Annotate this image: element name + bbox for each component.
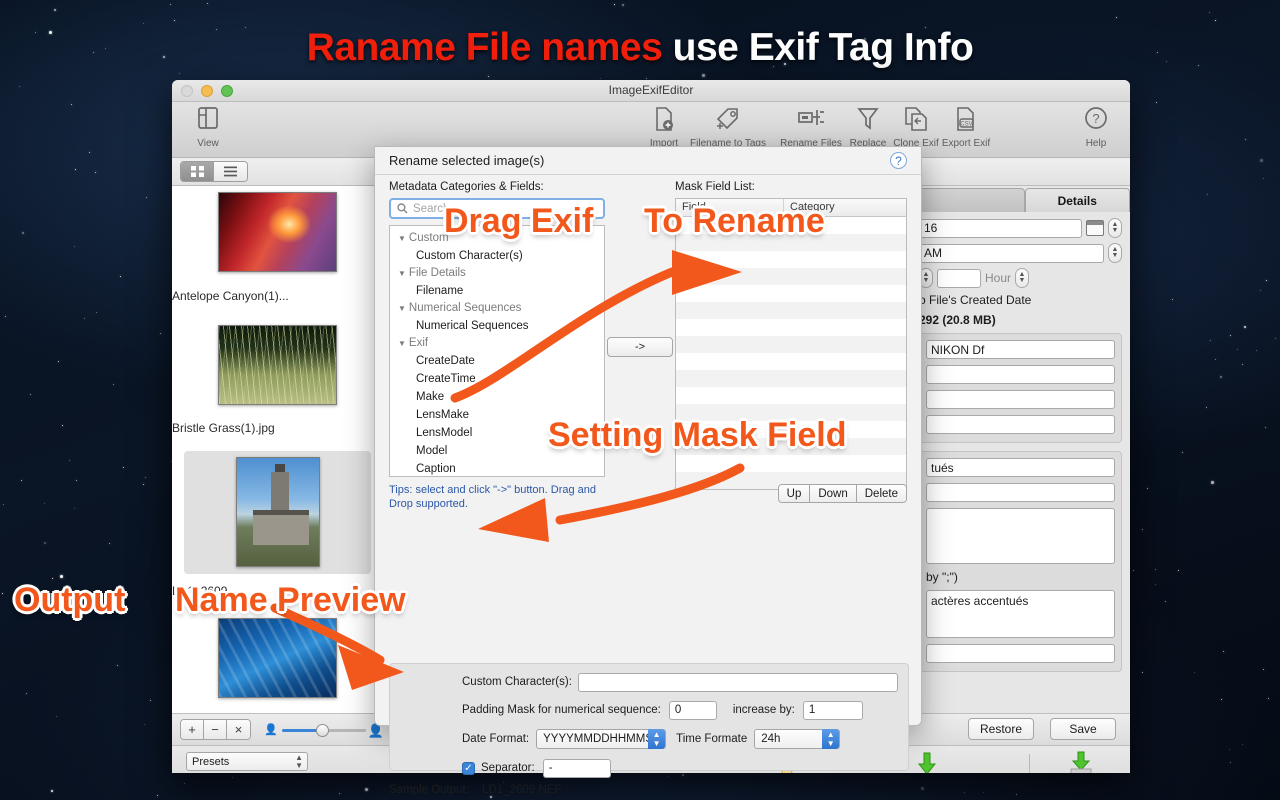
camera-field-4[interactable] [926, 415, 1115, 434]
separator-input[interactable]: - [543, 759, 611, 778]
help-icon: ? [1064, 106, 1128, 136]
increase-by-input[interactable]: 1 [803, 701, 863, 720]
presets-value: Presets [192, 756, 229, 768]
mask-table-row[interactable] [676, 268, 906, 285]
mask-table-row[interactable] [676, 336, 906, 353]
view-mode-segmented-control[interactable] [180, 161, 248, 182]
mask-table-row[interactable] [676, 370, 906, 387]
tree-item[interactable]: Custom Character(s) [390, 247, 604, 265]
date-format-value: YYYYMMDDHHMMSS [543, 733, 661, 745]
footer-batch-save[interactable]: Batch Save [1046, 750, 1116, 773]
window-titlebar: ImageExifEditor [172, 80, 1130, 102]
thumbnail-item-selected[interactable] [184, 451, 371, 574]
date-stepper[interactable]: ▲▼ [1108, 218, 1122, 238]
hour-label: Hour [985, 271, 1011, 285]
annotation-to-rename: To Rename [644, 202, 825, 241]
thumbnail-image-church[interactable] [236, 457, 320, 567]
chevron-updown-icon: ▲▼ [295, 754, 303, 770]
mask-table-row[interactable] [676, 319, 906, 336]
toolbar-export-exif[interactable]: CSV Export Exif [934, 106, 998, 149]
time-format-value: 24h [761, 733, 780, 745]
mask-action-buttons[interactable]: Up Down Delete [778, 484, 907, 503]
custom-chars-input[interactable] [578, 673, 898, 692]
separator-label: Separator: [481, 762, 535, 774]
tree-category-label: Exif [409, 337, 428, 349]
thumbnail-zoom-buttons[interactable]: + − × [180, 719, 251, 740]
mask-delete-button[interactable]: Delete [857, 485, 906, 502]
headline-white-text: use Exif Tag Info [673, 26, 974, 69]
date-format-row: Date Format: YYYYMMDDHHMMSS ▲▼ Time Form… [462, 727, 908, 751]
separator-note: by ";") [926, 570, 1115, 584]
toolbar-help[interactable]: ? Help [1064, 106, 1128, 149]
keyword-field-1[interactable]: tués [926, 458, 1115, 477]
footer-divider [1029, 754, 1030, 773]
description-field[interactable] [926, 508, 1115, 564]
tree-category[interactable]: ▼Exif [390, 335, 604, 352]
mask-label: Mask Field List: [675, 181, 907, 193]
keyword-field-2[interactable] [926, 483, 1115, 502]
thumbnail-image-antelope-canyon[interactable] [218, 192, 337, 272]
tab-inactive[interactable] [919, 188, 1025, 212]
tree-category-label: File Details [409, 267, 466, 279]
mask-table-row[interactable] [676, 251, 906, 268]
time-format-dropdown[interactable]: 24h ▲▼ [754, 729, 840, 749]
tree-category[interactable]: ▼File Details [390, 265, 604, 282]
custom-chars-label: Custom Character(s): [462, 676, 572, 688]
accent-text-field[interactable]: actères accentués [926, 590, 1115, 638]
thumbnail-size-slider[interactable]: 👤 👤 [264, 723, 384, 737]
date-field[interactable]: 16 [919, 219, 1082, 238]
padding-label: Padding Mask for numerical sequence: [462, 704, 661, 716]
tab-details[interactable]: Details [1025, 188, 1131, 212]
window-title: ImageExifEditor [172, 83, 1130, 97]
remove-button[interactable]: − [204, 720, 227, 739]
chevron-updown-icon: ▲▼ [822, 729, 839, 749]
thumbnail-item[interactable] [172, 319, 383, 411]
dialog-header: Rename selected image(s) ? [375, 147, 921, 175]
disclosure-triangle-icon[interactable]: ▼ [398, 234, 406, 243]
settings-group: Custom Character(s): Padding Mask for nu… [389, 663, 909, 771]
file-size-note: 292 (20.8 MB) [919, 313, 1122, 327]
thumbnail-sidebar[interactable]: Antelope Canyon(1)... Bristle Grass(1).j… [172, 186, 384, 713]
time-format-label: Time Formate [676, 733, 747, 745]
tips-text: Tips: select and click "->" button. Drag… [389, 483, 605, 511]
camera-field-2[interactable] [926, 365, 1115, 384]
restore-button[interactable]: Restore [968, 718, 1034, 740]
transfer-column: -> [607, 337, 673, 357]
thumbnail-label: Bristle Grass(1).jpg [172, 421, 383, 435]
disclosure-triangle-icon[interactable]: ▼ [398, 339, 406, 348]
separator-checkbox[interactable]: ✓ [462, 762, 475, 775]
padding-row: Padding Mask for numerical sequence: 0 i… [462, 698, 908, 722]
toolbar-help-label: Help [1064, 138, 1128, 149]
mask-table-row[interactable] [676, 455, 906, 472]
tree-item[interactable]: CreateTime [390, 370, 604, 388]
date-row[interactable]: 16 ▲▼ [919, 218, 1122, 238]
time-field[interactable]: AM [919, 244, 1104, 263]
svg-text:?: ? [1092, 111, 1099, 126]
annotation-drag-exif: Drag Exif [444, 202, 593, 241]
separator-row: ✓ Separator: - [462, 756, 908, 780]
annotation-name-preview: Name Preview [175, 581, 406, 620]
metadata-group: tués by ";") actères accentués [919, 451, 1122, 672]
camera-group: NIKON Df [919, 333, 1122, 443]
slider-knob[interactable] [316, 724, 329, 737]
batch-save-icon [1046, 750, 1116, 773]
svg-text:CSV: CSV [960, 122, 972, 128]
grid-view-icon[interactable] [181, 162, 214, 181]
headline-banner: Raname File names use Exif Tag Info [0, 26, 1280, 70]
calendar-icon[interactable] [1086, 220, 1104, 236]
toolbar-export-exif-label: Export Exif [934, 138, 998, 149]
search-icon [397, 203, 408, 214]
tree-category[interactable]: ▼Numerical Sequences [390, 300, 604, 317]
mask-table-row[interactable] [676, 387, 906, 404]
thumbnail-label: Antelope Canyon(1)... [172, 289, 383, 303]
tree-item[interactable]: Numerical Sequences [390, 317, 604, 335]
thumbnail-image-ice[interactable] [218, 618, 337, 698]
mask-up-button[interactable]: Up [779, 485, 811, 502]
tree-item[interactable]: Caption [390, 460, 604, 477]
annotation-output: Output [14, 581, 125, 620]
list-view-icon[interactable] [214, 162, 247, 181]
offset-stepper-right[interactable]: ▲▼ [1015, 268, 1029, 288]
tree-item[interactable]: CreateDate [390, 352, 604, 370]
save-button[interactable]: Save [1050, 718, 1116, 740]
presets-dropdown[interactable]: Presets ▲▼ [186, 752, 308, 771]
last-field[interactable] [926, 644, 1115, 663]
mask-table-row[interactable] [676, 302, 906, 319]
increase-by-label: increase by: [733, 704, 795, 716]
thumbnail-item[interactable] [172, 186, 383, 279]
created-date-note: o File's Created Date [919, 293, 1122, 307]
tree-item[interactable]: Filename [390, 282, 604, 300]
hour-offset-row[interactable]: ▲▼ Hour ▲▼ [919, 268, 1122, 288]
camera-field-3[interactable] [926, 390, 1115, 409]
metadata-label: Metadata Categories & Fields: [389, 181, 605, 193]
details-body: 16 ▲▼ AM ▲▼ ▲▼ Hour ▲▼ o File's Created … [919, 212, 1130, 672]
hour-offset-field[interactable] [937, 269, 981, 288]
thumbnail-image-bristle-grass[interactable] [218, 325, 337, 405]
clear-button[interactable]: × [227, 720, 250, 739]
disclosure-triangle-icon[interactable]: ▼ [398, 269, 406, 278]
disclosure-triangle-icon[interactable]: ▼ [398, 304, 406, 313]
sample-output-label: Sample Output: [389, 784, 469, 796]
toolbar-view[interactable]: View [176, 106, 240, 149]
details-tab-bar[interactable]: Details [919, 186, 1130, 212]
mask-table-row[interactable] [676, 353, 906, 370]
annotation-setting-mask: Setting Mask Field [548, 416, 847, 455]
view-icon [176, 106, 240, 136]
tree-item[interactable]: Make [390, 388, 604, 406]
dialog-help-icon[interactable]: ? [890, 152, 907, 169]
camera-make-field[interactable]: NIKON Df [926, 340, 1115, 359]
tree-category-label: Custom [409, 232, 449, 244]
tree-category-label: Numerical Sequences [409, 302, 522, 314]
tag-icon [682, 106, 774, 136]
padding-input[interactable]: 0 [669, 701, 717, 720]
chevron-updown-icon: ▲▼ [648, 729, 665, 749]
mask-table-row[interactable] [676, 285, 906, 302]
toolbar-filename-to-tags[interactable]: Filename to Tags [682, 106, 774, 149]
small-thumb-icon: 👤 [264, 723, 278, 736]
sample-output-value: LD1_2609.NEF [482, 784, 561, 796]
add-button[interactable]: + [181, 720, 204, 739]
date-format-dropdown[interactable]: YYYYMMDDHHMMSS ▲▼ [536, 729, 666, 749]
headline-red-text: Raname File names [307, 26, 663, 69]
details-sidebar[interactable]: Details 16 ▲▼ AM ▲▼ ▲▼ Hour ▲▼ o [918, 186, 1130, 713]
mask-down-button[interactable]: Down [810, 485, 856, 502]
date-format-label: Date Format: [462, 733, 529, 745]
custom-chars-row: Custom Character(s): [462, 670, 908, 694]
sample-output-row: Sample Output: LD1_2609.NEF [389, 784, 561, 796]
export-exif-icon: CSV [934, 106, 998, 136]
time-row[interactable]: AM ▲▼ [919, 243, 1122, 263]
toolbar-view-label: View [176, 138, 240, 149]
dialog-title: Rename selected image(s) [389, 153, 544, 168]
move-to-mask-button[interactable]: -> [607, 337, 673, 357]
time-stepper[interactable]: ▲▼ [1108, 243, 1122, 263]
